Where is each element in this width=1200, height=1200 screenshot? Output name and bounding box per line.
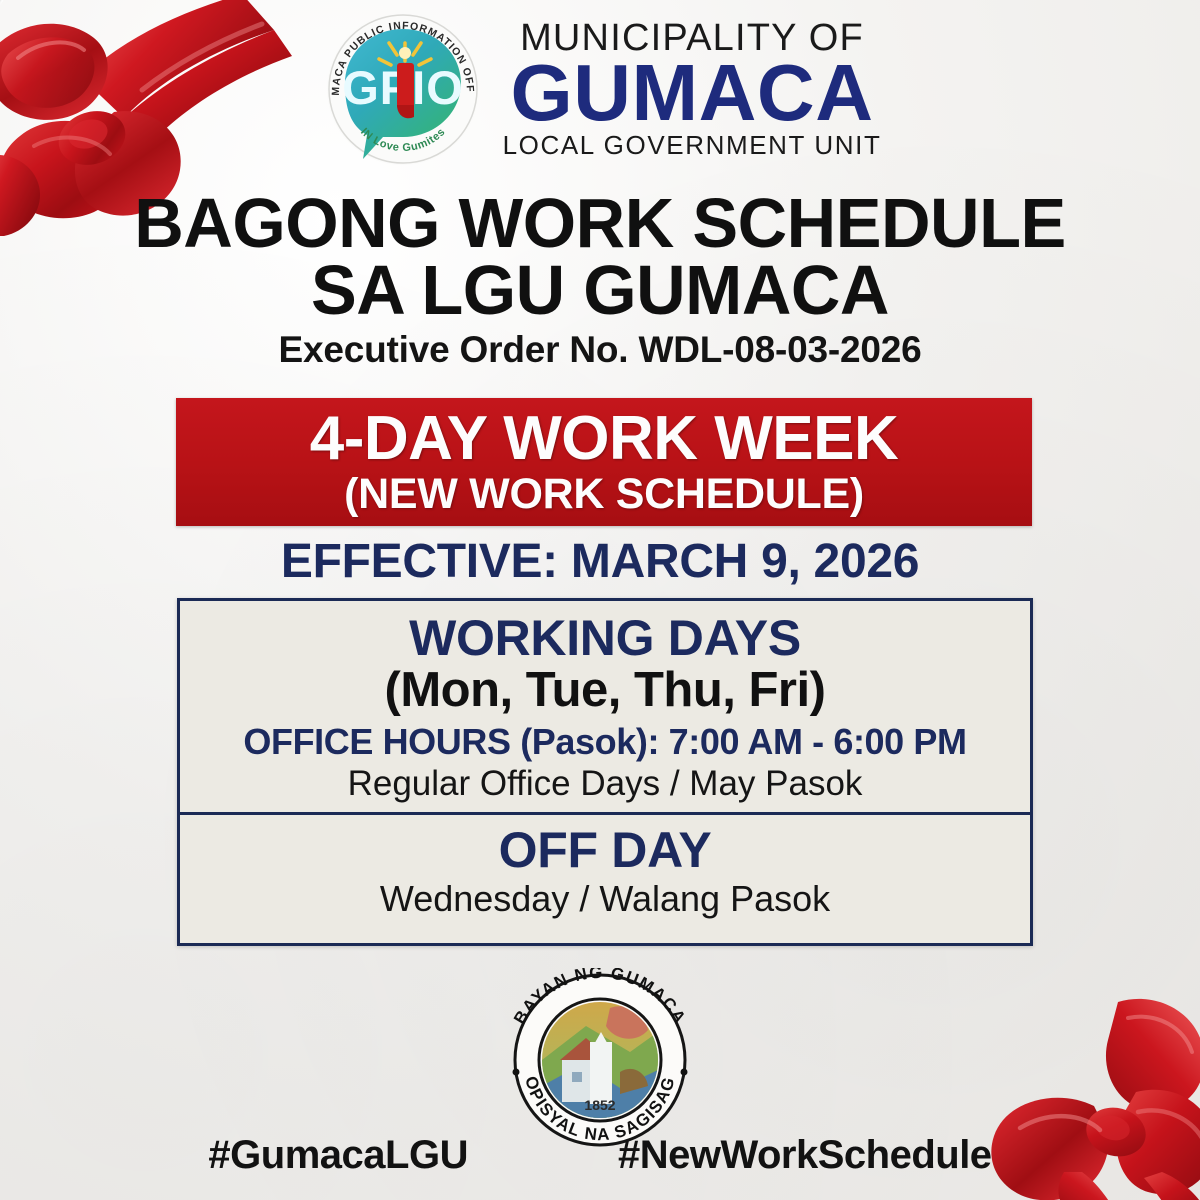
local-government-unit-label: LOCAL GOVERNMENT UNIT <box>503 132 882 158</box>
poster-header: GPIO GUMACA PUBLIC INFORMATION OFFICE IN… <box>0 6 1200 171</box>
title-line-1: BAGONG WORK SCHEDULE <box>12 190 1188 257</box>
off-day-heading: OFF DAY <box>190 823 1020 877</box>
hashtag-gumacalgu: #GumacaLGU <box>208 1133 468 1178</box>
schedule-details-box: WORKING DAYS (Mon, Tue, Thu, Fri) OFFICE… <box>177 598 1033 946</box>
office-hours: OFFICE HOURS (Pasok): 7:00 AM - 6:00 PM <box>190 721 1020 763</box>
poster-title-block: BAGONG WORK SCHEDULE SA LGU GUMACA Execu… <box>0 190 1200 371</box>
gumaca-municipal-seal-icon: 1852 BAYAN NG GUMACA OPISYAL NA SAGISAG <box>490 968 710 1150</box>
banner-subheadline: (NEW WORK SCHEDULE) <box>344 473 864 516</box>
city-name: GUMACA <box>511 55 874 131</box>
organization-name-block: MUNICIPALITY OF GUMACA LOCAL GOVERNMENT … <box>503 19 882 158</box>
work-week-banner: 4-DAY WORK WEEK (NEW WORK SCHEDULE) <box>176 398 1032 526</box>
working-days-note: Regular Office Days / May Pasok <box>190 764 1020 804</box>
banner-headline: 4-DAY WORK WEEK <box>310 408 898 470</box>
gpio-logo-icon: GPIO GUMACA PUBLIC INFORMATION OFFICE IN… <box>319 9 487 169</box>
working-days-list: (Mon, Tue, Thu, Fri) <box>190 665 1020 717</box>
working-days-heading: WORKING DAYS <box>190 611 1020 665</box>
working-days-section: WORKING DAYS (Mon, Tue, Thu, Fri) OFFICE… <box>180 601 1030 812</box>
off-day-section: OFF DAY Wednesday / Walang Pasok <box>180 815 1030 929</box>
red-ribbon-bow-bottom-right <box>968 996 1200 1200</box>
executive-order-number: Executive Order No. WDL-08-03-2026 <box>0 329 1200 371</box>
poster-canvas: GPIO GUMACA PUBLIC INFORMATION OFFICE IN… <box>0 0 1200 1200</box>
effective-date: EFFECTIVE: MARCH 9, 2026 <box>0 534 1200 589</box>
hashtag-newworkschedule: #NewWorkSchedule <box>618 1133 992 1178</box>
off-day-note: Wednesday / Walang Pasok <box>190 879 1020 919</box>
title-line-2: SA LGU GUMACA <box>12 257 1188 324</box>
seal-year: 1852 <box>584 1097 615 1113</box>
